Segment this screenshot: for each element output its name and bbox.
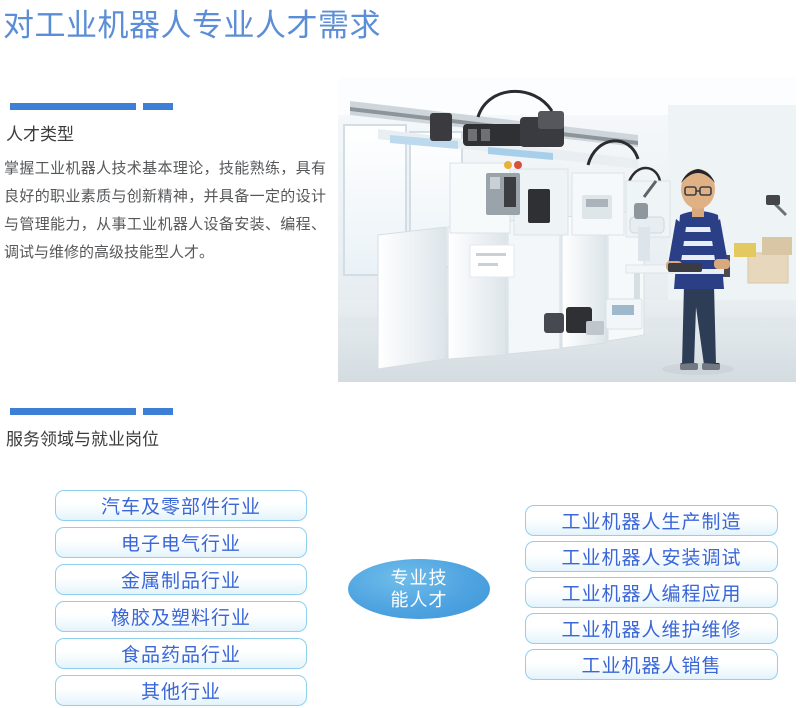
section-title-talent-type: 人才类型 (6, 123, 74, 147)
industry-item-5[interactable]: 食品药品行业 (55, 638, 307, 669)
industry-item-4[interactable]: 橡胶及塑料行业 (55, 601, 307, 632)
workshop-photo (338, 77, 796, 382)
decoration-bar-long (10, 103, 136, 110)
industry-item-2[interactable]: 电子电气行业 (55, 527, 307, 558)
position-item-2[interactable]: 工业机器人安装调试 (525, 541, 778, 572)
section-talent-type-header: 人才类型 (0, 103, 74, 147)
industry-item-6[interactable]: 其他行业 (55, 675, 307, 706)
section-service-fields-header: 服务领域与就业岗位 (0, 408, 159, 452)
page-root: 对工业机器人专业人才需求 人才类型 掌握工业机器人技术基本理论，技能熟练，具有良… (0, 0, 800, 708)
decoration-bar-short (143, 103, 173, 110)
position-item-1[interactable]: 工业机器人生产制造 (525, 505, 778, 536)
position-item-5[interactable]: 工业机器人销售 (525, 649, 778, 680)
position-item-3[interactable]: 工业机器人编程应用 (525, 577, 778, 608)
workshop-photo-illustration (338, 77, 796, 382)
section-title-service-fields: 服务领域与就业岗位 (6, 428, 159, 452)
core-talent-line-2: 能人才 (391, 589, 448, 611)
talent-type-paragraph: 掌握工业机器人技术基本理论，技能熟练，具有良好的职业素质与创新精神，并具备一定的… (4, 155, 326, 267)
position-item-4[interactable]: 工业机器人维护维修 (525, 613, 778, 644)
decoration-bar-long-2 (10, 408, 136, 415)
heading-decoration-2 (0, 408, 159, 416)
core-talent-line-1: 专业技 (391, 567, 448, 589)
industry-item-3[interactable]: 金属制品行业 (55, 564, 307, 595)
page-title: 对工业机器人专业人才需求 (3, 6, 381, 46)
core-talent-ellipse: 专业技 能人才 (348, 559, 490, 619)
heading-decoration (0, 103, 74, 111)
industry-item-1[interactable]: 汽车及零部件行业 (55, 490, 307, 521)
decoration-bar-short-2 (143, 408, 173, 415)
